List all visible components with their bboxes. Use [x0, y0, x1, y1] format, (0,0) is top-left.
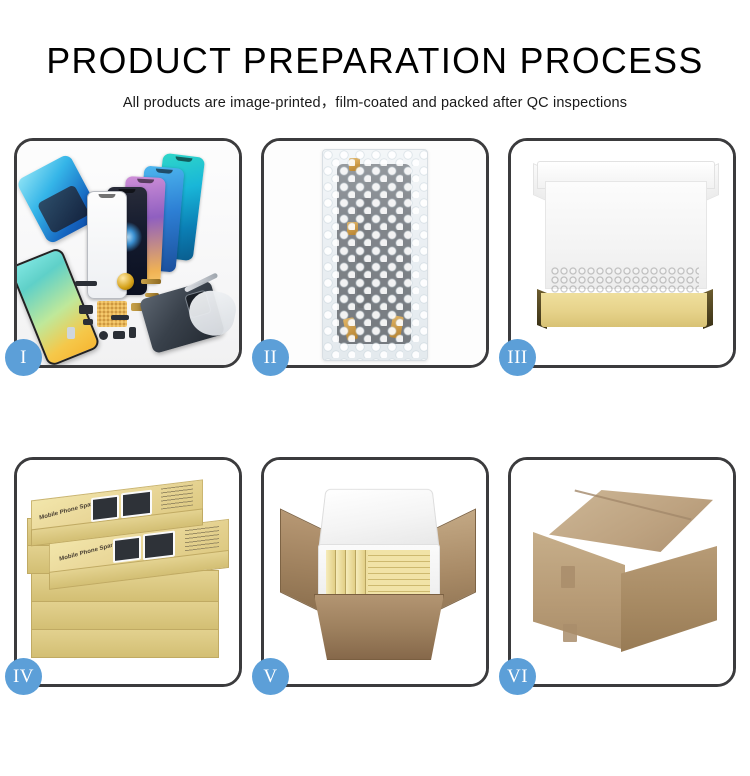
- box-front-yellow: [541, 293, 707, 327]
- step-badge-2: II: [252, 339, 289, 376]
- step-badge-1: I: [5, 339, 42, 376]
- box-spec-lines: [161, 485, 193, 510]
- panel-step-1[interactable]: I: [14, 138, 242, 368]
- header: PRODUCT PREPARATION PROCESS All products…: [0, 0, 750, 112]
- panel-step-5[interactable]: V: [261, 457, 489, 687]
- small-part-screw: [99, 331, 108, 340]
- panel-step-3-image: [511, 141, 733, 365]
- foam-carton-scene: [264, 460, 486, 684]
- process-row-1: I II: [0, 138, 750, 368]
- carton-right-face: [621, 546, 717, 652]
- step-badge-6: VI: [499, 658, 536, 695]
- foam-lid: [318, 489, 440, 551]
- small-part-sim-tray: [67, 327, 75, 339]
- sealed-carton: [533, 490, 719, 658]
- carton-left-face: [533, 532, 625, 650]
- panel-step-2-image: [264, 141, 486, 365]
- bubble-wrapped-contents: [551, 267, 699, 295]
- carton-top-face: [549, 490, 713, 552]
- panel-step-1-image: [17, 141, 239, 365]
- small-part-bar: [75, 281, 97, 286]
- carton-body: [314, 594, 444, 660]
- box-window-screen: [143, 530, 175, 560]
- bubble-wrap-bag: [322, 149, 428, 361]
- panel-step-6-image: [511, 460, 733, 684]
- box-window-screen: [91, 495, 119, 522]
- inner-box-scene: [511, 141, 733, 365]
- carton-tape-upper: [561, 566, 575, 588]
- phone-parts-scene: [17, 141, 239, 365]
- small-part-chip: [113, 331, 125, 339]
- step-badge-3: III: [499, 339, 536, 376]
- carton-tape-lower: [563, 624, 577, 642]
- notch-icon: [137, 179, 154, 184]
- retail-box-stack: Mobile Phone Spare Parts Mobile Phone Sp…: [25, 478, 237, 674]
- panel-step-4[interactable]: Mobile Phone Spare Parts Mobile Phone Sp…: [14, 457, 242, 687]
- phone-screen-fan: [93, 157, 233, 291]
- panel-step-6[interactable]: VI: [508, 457, 736, 687]
- process-grid: I II: [0, 138, 750, 776]
- contact-grid-part: [97, 301, 127, 327]
- panel-step-5-image: [264, 460, 486, 684]
- box-window-screen: [113, 536, 141, 563]
- sealed-carton-scene: [511, 460, 733, 684]
- small-part-chip: [129, 327, 136, 338]
- panel-step-4-image: Mobile Phone Spare Parts Mobile Phone Sp…: [17, 460, 239, 684]
- retail-box-layer: [31, 598, 217, 628]
- step-badge-5: V: [252, 658, 289, 695]
- bubble-wrap-scene: [264, 141, 486, 365]
- box-spec-lines: [185, 525, 219, 551]
- panel-step-3[interactable]: III: [508, 138, 736, 368]
- notch-icon: [175, 156, 192, 162]
- retail-box-stack-scene: Mobile Phone Spare Parts Mobile Phone Sp…: [17, 460, 239, 684]
- process-row-2: Mobile Phone Spare Parts Mobile Phone Sp…: [0, 457, 750, 687]
- page-subtitle: All products are image-printed，film-coat…: [0, 80, 750, 112]
- flex-cable-part: [141, 279, 161, 284]
- notch-icon: [156, 168, 173, 173]
- small-part-bar: [111, 315, 129, 320]
- page-title: PRODUCT PREPARATION PROCESS: [4, 0, 747, 80]
- product-preparation-infographic: PRODUCT PREPARATION PROCESS All products…: [0, 0, 750, 750]
- bubble-texture: [323, 150, 427, 360]
- panel-step-2[interactable]: II: [261, 138, 489, 368]
- small-part-chip: [83, 319, 93, 325]
- notch-icon: [99, 194, 116, 198]
- box-window-screen: [121, 490, 152, 519]
- speaker-coil-part: [117, 273, 134, 290]
- step-badge-4: IV: [5, 658, 42, 695]
- retail-box-layer: [31, 626, 217, 656]
- small-part-chip: [79, 305, 93, 314]
- packed-retail-boxes: [326, 550, 430, 594]
